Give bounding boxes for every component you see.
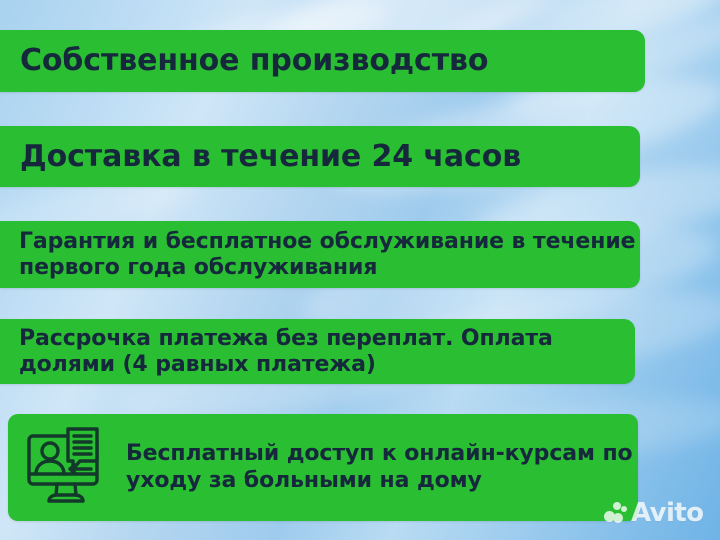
feature-bar-online-courses: Бесплатный доступ к онлайн-курсам по ухо… — [8, 414, 638, 521]
promo-banner: Собственное производство Доставка в тече… — [0, 0, 720, 540]
feature-bar-label: Рассрочка платежа без переплат. Оплата д… — [0, 326, 635, 378]
feature-bar-label: Собственное производство — [0, 45, 488, 77]
feature-bar-label: Бесплатный доступ к онлайн-курсам по ухо… — [114, 441, 638, 494]
feature-bar-warranty: Гарантия и бесплатное обслуживание в теч… — [0, 221, 640, 288]
feature-bar-installment: Рассрочка платежа без переплат. Оплата д… — [0, 319, 635, 384]
online-course-monitor-icon — [18, 420, 114, 516]
feature-bar-delivery: Доставка в течение 24 часов — [0, 126, 640, 187]
feature-bar-own-production: Собственное производство — [0, 30, 645, 92]
feature-bar-label: Доставка в течение 24 часов — [0, 141, 521, 173]
feature-bar-label: Гарантия и бесплатное обслуживание в теч… — [0, 229, 640, 281]
